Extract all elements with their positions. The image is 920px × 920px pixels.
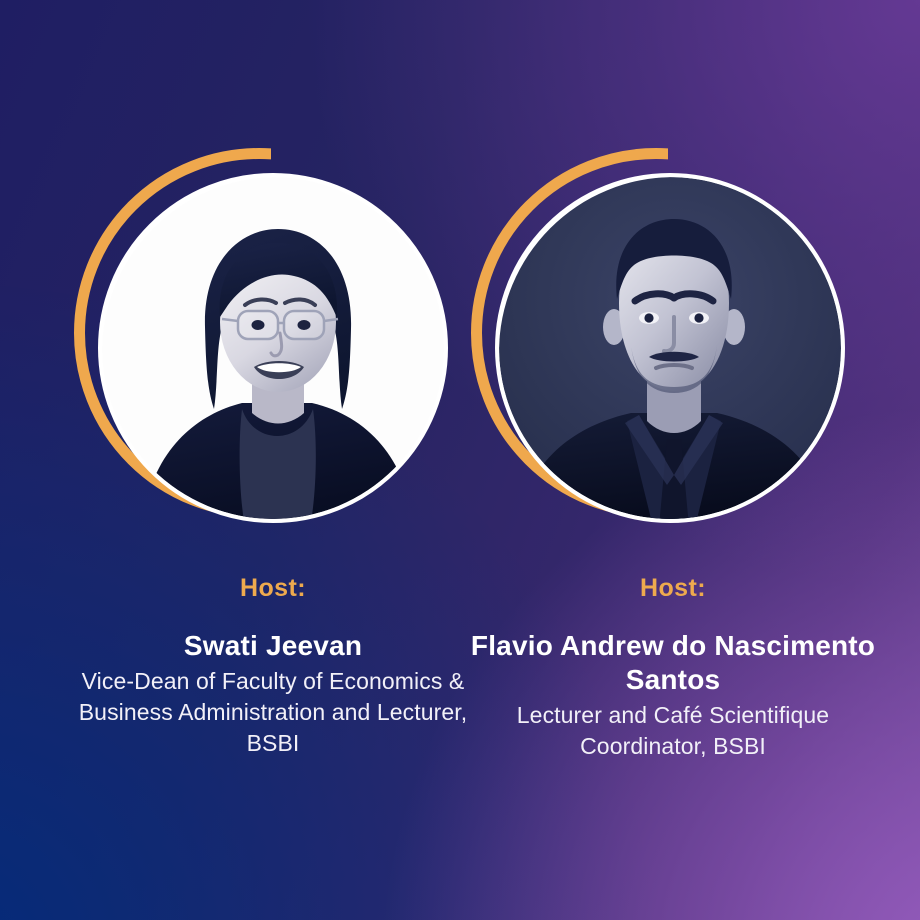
- caption-swati-jeevan: Host: Swati Jeevan Vice-Dean of Faculty …: [52, 575, 494, 759]
- avatar-photo-swati-jeevan: [102, 177, 444, 519]
- avatar-photo-flavio-andrew-do-nascimento-santos: [499, 177, 841, 519]
- speaker-name-left: Swati Jeevan: [52, 629, 494, 663]
- avatar-flavio-andrew-do-nascimento-santos: [465, 148, 845, 538]
- avatar-row: [0, 0, 920, 560]
- portrait-illustration-left: [102, 177, 444, 519]
- host-label-right: Host:: [452, 575, 894, 603]
- photo-ring-left: [98, 173, 448, 523]
- captions-row: Host: Swati Jeevan Vice-Dean of Faculty …: [0, 575, 920, 920]
- speaker-name-right: Flavio Andrew do Nascimento Santos: [452, 629, 894, 697]
- speaker-role-right: Lecturer and Café Scientifique Coordinat…: [452, 700, 894, 762]
- portrait-illustration-right: [499, 177, 841, 519]
- speaker-poster: Host: Swati Jeevan Vice-Dean of Faculty …: [0, 0, 920, 920]
- caption-flavio-andrew-do-nascimento-santos: Host: Flavio Andrew do Nascimento Santos…: [452, 575, 894, 762]
- avatar-swati-jeevan: [68, 148, 448, 538]
- speaker-role-left: Vice-Dean of Faculty of Economics & Busi…: [52, 666, 494, 759]
- photo-ring-right: [495, 173, 845, 523]
- host-label-left: Host:: [52, 575, 494, 603]
